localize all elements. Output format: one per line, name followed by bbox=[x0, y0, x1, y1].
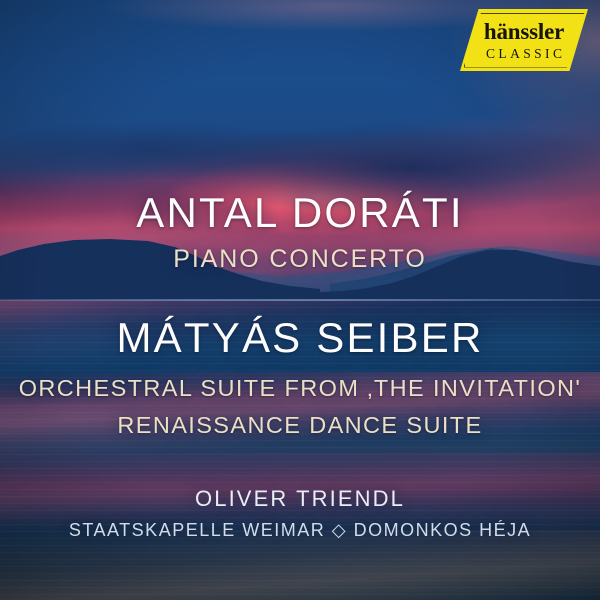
diamond-separator-icon: ◇ bbox=[332, 520, 347, 540]
work-title-invitation-suite: ORCHESTRAL SUITE FROM ‚THE INVITATION' bbox=[0, 377, 600, 401]
hanssler-classic-logo[interactable]: hänssler CLASSIC bbox=[460, 9, 588, 71]
performer-orchestra: STAATSKAPELLE WEIMAR bbox=[69, 520, 325, 540]
composer-name-dorati: ANTAL DORÁTI bbox=[0, 192, 600, 234]
performer-conductor: DOMONKOS HÉJA bbox=[354, 520, 532, 540]
performer-soloist: OLIVER TRIENDL bbox=[0, 488, 600, 510]
logo-classic-text: CLASSIC bbox=[460, 47, 588, 61]
work-title-piano-concerto: PIANO CONCERTO bbox=[0, 247, 600, 272]
performer-ensemble-line: STAATSKAPELLE WEIMAR ◇ DOMONKOS HÉJA bbox=[0, 521, 600, 539]
work-title-renaissance-dance-suite: RENAISSANCE DANCE SUITE bbox=[0, 414, 600, 438]
logo-brand-text: hänssler bbox=[460, 20, 588, 43]
composer-name-seiber: MÁTYÁS SEIBER bbox=[0, 317, 600, 359]
album-cover: hänssler CLASSIC ANTAL DORÁTI PIANO CONC… bbox=[0, 0, 600, 600]
